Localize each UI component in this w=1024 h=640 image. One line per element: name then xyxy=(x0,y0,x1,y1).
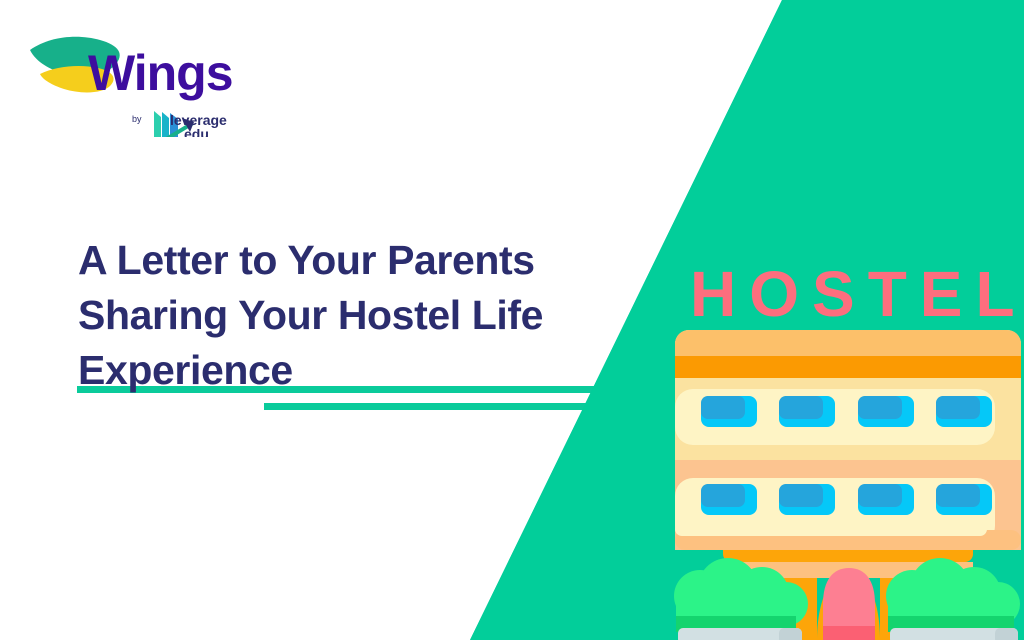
step-right-shadow xyxy=(995,628,1018,640)
building-facade xyxy=(675,330,1021,550)
window xyxy=(936,396,992,427)
roof-lower-band xyxy=(675,356,1021,378)
roof-upper-band xyxy=(675,330,1021,356)
window xyxy=(779,396,835,427)
floor-divider-band xyxy=(675,460,1021,476)
hostel-sign-text: HOSTEL xyxy=(690,262,1024,326)
window xyxy=(701,484,757,515)
facade-footer-inset xyxy=(675,522,987,536)
window xyxy=(779,484,835,515)
step-left-shadow xyxy=(779,628,802,640)
poster-canvas: Wings by leverage edu A Letter to Your P… xyxy=(0,0,1024,640)
window xyxy=(936,484,992,515)
window xyxy=(701,396,757,427)
entrance-door xyxy=(823,568,875,640)
window xyxy=(858,484,914,515)
window xyxy=(858,396,914,427)
